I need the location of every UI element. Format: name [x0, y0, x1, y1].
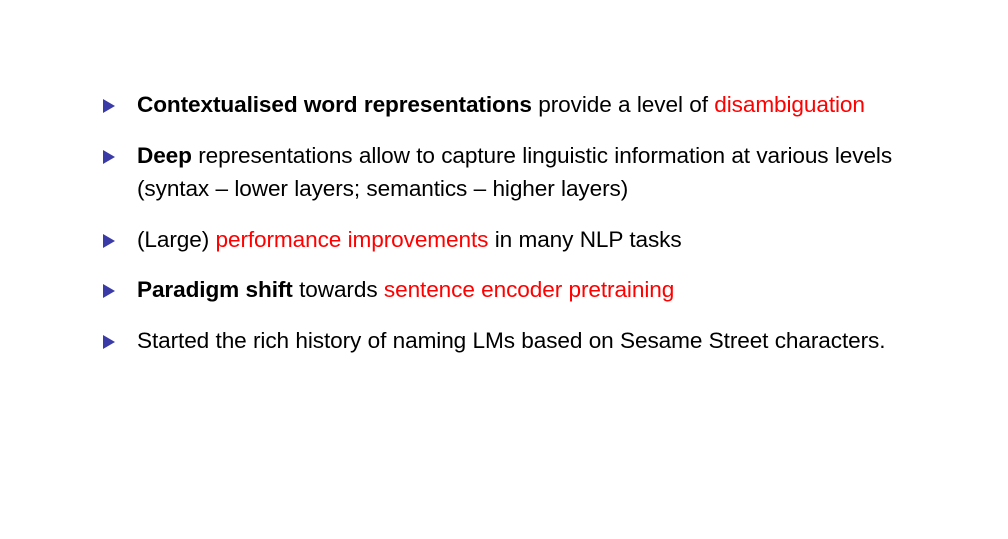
list-item: Deep representations allow to capture li…: [103, 139, 943, 206]
triangle-right-icon: [103, 284, 115, 298]
bullet-list: Contextualised word representations prov…: [103, 88, 943, 357]
triangle-right-icon: [103, 150, 115, 164]
text-segment-plain: (Large): [137, 227, 216, 252]
list-item: Paradigm shift towards sentence encoder …: [103, 273, 943, 307]
text-segment-bold: Paradigm shift: [137, 277, 293, 302]
text-segment-highlight: sentence encoder pretraining: [384, 277, 674, 302]
triangle-right-icon: [103, 335, 115, 349]
text-segment-highlight: performance improvements: [216, 227, 489, 252]
list-item: Started the rich history of naming LMs b…: [103, 324, 943, 358]
text-segment-plain: towards: [293, 277, 384, 302]
triangle-right-icon: [103, 99, 115, 113]
list-item: (Large) performance improvements in many…: [103, 223, 943, 257]
slide-canvas: Contextualised word representations prov…: [0, 0, 1008, 539]
list-item-text: (Large) performance improvements in many…: [137, 223, 943, 257]
text-segment-plain: Started the rich history of naming LMs b…: [137, 328, 885, 353]
text-segment-plain: in many NLP tasks: [488, 227, 681, 252]
triangle-right-icon: [103, 234, 115, 248]
text-segment-plain: provide a level of: [532, 92, 714, 117]
list-item-text: Paradigm shift towards sentence encoder …: [137, 273, 943, 307]
list-item-text: Contextualised word representations prov…: [137, 88, 943, 122]
text-segment-highlight: disambiguation: [714, 92, 865, 117]
list-item: Contextualised word representations prov…: [103, 88, 943, 122]
text-segment-plain: representations allow to capture linguis…: [137, 143, 892, 202]
text-segment-bold: Deep: [137, 143, 192, 168]
list-item-text: Started the rich history of naming LMs b…: [137, 324, 943, 358]
text-segment-bold: Contextualised word representations: [137, 92, 532, 117]
list-item-text: Deep representations allow to capture li…: [137, 139, 943, 206]
